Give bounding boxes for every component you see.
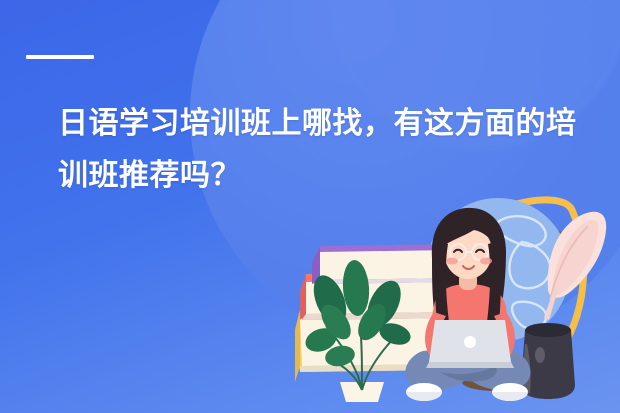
promo-banner: 日语学习培训班上哪找，有这方面的培训班推荐吗？	[0, 0, 620, 413]
title-divider-rule	[26, 55, 94, 59]
page-title: 日语学习培训班上哪找，有这方面的培训班推荐吗？	[58, 98, 578, 201]
